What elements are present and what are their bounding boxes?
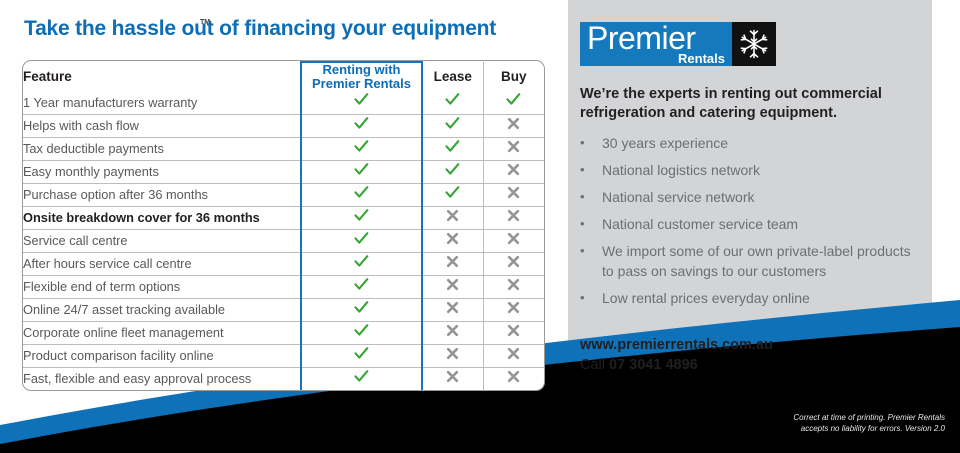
list-item: •We import some of our own private-label… (580, 241, 925, 281)
check-icon (354, 347, 369, 360)
cross-icon (507, 117, 520, 130)
cell-buy (483, 229, 544, 252)
cross-icon (507, 255, 520, 268)
feature-bullet-list: •30 years experience•National logistics … (580, 133, 925, 315)
bullet-text: National logistics network (602, 160, 760, 180)
cell-lease (422, 229, 483, 252)
logo-icon-block (732, 22, 776, 66)
logo-secondary-word: Rentals (678, 52, 725, 65)
check-icon (354, 370, 369, 383)
cell-buy (483, 275, 544, 298)
cell-lease (422, 183, 483, 206)
bullet-text: We import some of our own private-label … (602, 241, 925, 281)
call-line: Call 07 3041 4896 (580, 356, 698, 374)
cell-feature: 1 Year manufacturers warranty (23, 91, 301, 114)
table-row: Easy monthly payments (23, 160, 544, 183)
disclaimer-text: Correct at time of printing. Premier Ren… (690, 412, 945, 434)
premier-rentals-logo: Premier Rentals (580, 22, 776, 66)
check-icon (354, 93, 369, 106)
list-item: •National customer service team (580, 214, 925, 234)
comparison-table: Feature Renting with Premier Rentals Lea… (23, 61, 544, 390)
cell-renting-premier (301, 183, 422, 206)
bullet-icon: • (580, 160, 602, 180)
cross-icon (446, 347, 459, 360)
list-item: •National service network (580, 187, 925, 207)
cell-buy (483, 114, 544, 137)
check-icon (354, 140, 369, 153)
bullet-icon: • (580, 214, 602, 234)
cell-buy (483, 252, 544, 275)
bullet-text: 30 years experience (602, 133, 728, 153)
cell-renting-premier (301, 206, 422, 229)
cell-buy (483, 298, 544, 321)
check-icon (354, 186, 369, 199)
column-header-buy: Buy (483, 62, 544, 91)
table-row: Fast, flexible and easy approval process (23, 367, 544, 390)
column-header-feature: Feature (23, 62, 301, 91)
cell-renting-premier (301, 367, 422, 390)
cross-icon (446, 232, 459, 245)
cross-icon (446, 324, 459, 337)
cell-feature: Tax deductible payments (23, 137, 301, 160)
table-row: Service call centre (23, 229, 544, 252)
cell-lease (422, 298, 483, 321)
table-row: Online 24/7 asset tracking available (23, 298, 544, 321)
cell-buy (483, 321, 544, 344)
cross-icon (507, 324, 520, 337)
cell-feature: After hours service call centre (23, 252, 301, 275)
check-icon (354, 324, 369, 337)
check-icon (506, 93, 521, 106)
cell-feature: Product comparison facility online (23, 344, 301, 367)
cell-lease (422, 252, 483, 275)
table-row: 1 Year manufacturers warranty (23, 91, 544, 114)
cell-feature: Fast, flexible and easy approval process (23, 367, 301, 390)
table-header-row: Feature Renting with Premier Rentals Lea… (23, 62, 544, 91)
cell-renting-premier (301, 160, 422, 183)
check-icon (445, 186, 460, 199)
table-row: Corporate online fleet management (23, 321, 544, 344)
column-header-lease: Lease (422, 62, 483, 91)
cell-buy (483, 91, 544, 114)
check-icon (354, 163, 369, 176)
cross-icon (507, 140, 520, 153)
cell-lease (422, 114, 483, 137)
list-item: •30 years experience (580, 133, 925, 153)
cross-icon (507, 347, 520, 360)
cell-renting-premier (301, 344, 422, 367)
check-icon (354, 255, 369, 268)
check-icon (445, 117, 460, 130)
cross-icon (507, 209, 520, 222)
cross-icon (446, 370, 459, 383)
cross-icon (446, 255, 459, 268)
cell-buy (483, 183, 544, 206)
cross-icon (446, 278, 459, 291)
bullet-text: National customer service team (602, 214, 798, 234)
cross-icon (446, 209, 459, 222)
cell-feature: Service call centre (23, 229, 301, 252)
cell-renting-premier (301, 137, 422, 160)
check-icon (445, 163, 460, 176)
cell-renting-premier (301, 298, 422, 321)
cell-renting-premier (301, 229, 422, 252)
column-header-renting-premier: Renting with Premier Rentals (301, 62, 422, 91)
cell-feature: Corporate online fleet management (23, 321, 301, 344)
table-body: 1 Year manufacturers warrantyHelps with … (23, 91, 544, 390)
table-row: Onsite breakdown cover for 36 months (23, 206, 544, 229)
cell-feature: Easy monthly payments (23, 160, 301, 183)
website-text[interactable]: www.premierrentals.com.au (580, 336, 773, 354)
table-row: Helps with cash flow (23, 114, 544, 137)
cell-renting-premier (301, 91, 422, 114)
renting-header-line-1: Renting with (323, 62, 401, 77)
list-item: •Low rental prices everyday online (580, 288, 925, 308)
cell-lease (422, 321, 483, 344)
cross-icon (446, 301, 459, 314)
check-icon (354, 209, 369, 222)
bullet-icon: • (580, 288, 602, 308)
cell-feature: Flexible end of term options (23, 275, 301, 298)
check-icon (354, 232, 369, 245)
bullet-icon: • (580, 133, 602, 153)
cell-buy (483, 160, 544, 183)
list-item: •National logistics network (580, 160, 925, 180)
cell-lease (422, 91, 483, 114)
cross-icon (507, 163, 520, 176)
table-row: After hours service call centre (23, 252, 544, 275)
cross-icon (507, 186, 520, 199)
check-icon (354, 278, 369, 291)
cross-icon (507, 370, 520, 383)
logo-wordmark-block: Premier Rentals (580, 22, 732, 66)
check-icon (354, 301, 369, 314)
cross-icon (507, 232, 520, 245)
cell-buy (483, 206, 544, 229)
bullet-icon: • (580, 187, 602, 207)
check-icon (354, 117, 369, 130)
cell-renting-premier (301, 321, 422, 344)
cell-renting-premier (301, 114, 422, 137)
cross-icon (507, 278, 520, 291)
table-row: Purchase option after 36 months (23, 183, 544, 206)
table-row: Tax deductible payments (23, 137, 544, 160)
disclaimer-line-2: accepts no liability for errors. Version… (801, 424, 945, 433)
comparison-table-container: Feature Renting with Premier Rentals Lea… (22, 60, 545, 391)
check-icon (445, 140, 460, 153)
cell-lease (422, 275, 483, 298)
check-icon (445, 93, 460, 106)
table-row: Flexible end of term options (23, 275, 544, 298)
panel-lead-text: We’re the experts in renting out commerc… (580, 85, 930, 123)
page-title: Take the hassle out of financing your eq… (24, 17, 496, 41)
phone-number[interactable]: 07 3041 4896 (609, 357, 698, 373)
disclaimer-line-1: Correct at time of printing. Premier Ren… (793, 413, 945, 422)
table-head: Feature Renting with Premier Rentals Lea… (23, 62, 544, 91)
snowflake-icon (738, 28, 770, 60)
cell-lease (422, 160, 483, 183)
cell-lease (422, 344, 483, 367)
cell-lease (422, 137, 483, 160)
cross-icon (507, 301, 520, 314)
cell-renting-premier (301, 252, 422, 275)
bullet-text: National service network (602, 187, 755, 207)
cell-buy (483, 367, 544, 390)
renting-header-line-2: Premier Rentals (312, 76, 411, 91)
trademark-mark: TM (200, 19, 210, 26)
flyer-page: Take the hassle out of financing your eq… (0, 0, 960, 453)
call-label: Call (580, 357, 609, 373)
cell-buy (483, 344, 544, 367)
cell-feature: Helps with cash flow (23, 114, 301, 137)
cell-renting-premier (301, 275, 422, 298)
cell-lease (422, 206, 483, 229)
table-row: Product comparison facility online (23, 344, 544, 367)
cell-feature: Onsite breakdown cover for 36 months (23, 206, 301, 229)
bullet-text: Low rental prices everyday online (602, 288, 810, 308)
bullet-icon: • (580, 241, 602, 261)
cell-buy (483, 137, 544, 160)
cell-feature: Online 24/7 asset tracking available (23, 298, 301, 321)
cell-lease (422, 367, 483, 390)
cell-feature: Purchase option after 36 months (23, 183, 301, 206)
